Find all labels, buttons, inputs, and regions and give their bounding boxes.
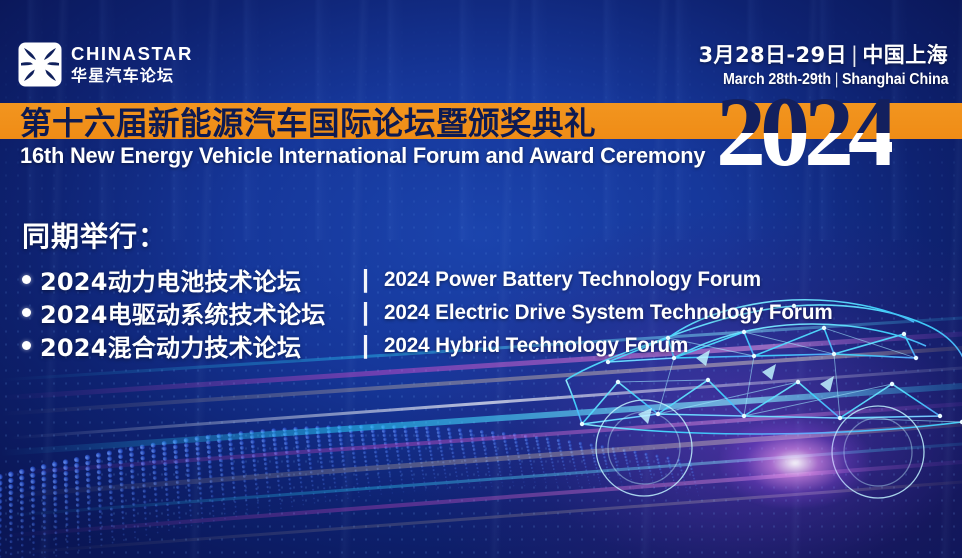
date-location-cn: 3月28日-29日|中国上海 bbox=[699, 44, 948, 68]
page-title-cn: 第十六届新能源汽车国际论坛暨颁奖典礼 bbox=[20, 100, 596, 142]
headlight-glow-decoration bbox=[720, 418, 870, 508]
agenda-item-name-en: 2024 Power Battery Technology Forum bbox=[384, 267, 761, 292]
date-en-text: March 28th-29th bbox=[723, 71, 831, 88]
list-item[interactable]: 2024电驱动系统技术论坛 | 2024 Electric Drive Syst… bbox=[22, 297, 882, 328]
agenda-heading: 同期举行： bbox=[22, 215, 882, 255]
bullet-icon bbox=[22, 308, 31, 317]
logo-name-cn: 华星汽车论坛 bbox=[71, 68, 193, 84]
agenda-item-name-en: 2024 Electric Drive System Technology Fo… bbox=[384, 300, 833, 325]
bullet-icon bbox=[22, 275, 31, 284]
agenda-item-name-cn: 2024混合动力技术论坛 bbox=[40, 328, 301, 363]
agenda-item-name-en: 2024 Hybrid Technology Forum bbox=[384, 333, 688, 358]
event-poster: CHINASTAR 华星汽车论坛 3月28日-29日|中国上海 March 28… bbox=[0, 0, 962, 558]
date-cn-text: 3月28日-29日 bbox=[699, 43, 847, 67]
agenda-item-divider: | bbox=[362, 267, 369, 292]
location-en-text: Shanghai China bbox=[842, 71, 948, 88]
date-location-en: March 28th-29th|Shanghai China bbox=[718, 71, 948, 89]
list-item[interactable]: 2024混合动力技术论坛 | 2024 Hybrid Technology Fo… bbox=[22, 330, 882, 361]
logo-wordmark: CHINASTAR 华星汽车论坛 bbox=[71, 45, 193, 84]
list-item[interactable]: 2024动力电池技术论坛 | 2024 Power Battery Techno… bbox=[22, 264, 882, 295]
agenda-item-name-cn: 2024动力电池技术论坛 bbox=[40, 262, 301, 297]
date-separator-cn: | bbox=[847, 43, 862, 67]
agenda-section: 同期举行： 2024动力电池技术论坛 | 2024 Power Battery … bbox=[22, 215, 882, 363]
event-date-location: 3月28日-29日|中国上海 March 28th-29th|Shanghai … bbox=[699, 44, 948, 88]
chinastar-star-logo-icon bbox=[18, 42, 62, 87]
agenda-item-divider: | bbox=[362, 333, 369, 358]
page-title-en: 16th New Energy Vehicle International Fo… bbox=[20, 143, 705, 169]
date-separator-en: | bbox=[831, 71, 842, 88]
location-cn-text: 中国上海 bbox=[862, 43, 948, 67]
agenda-item-name-cn: 2024电驱动系统技术论坛 bbox=[40, 295, 325, 330]
logo-name-en: CHINASTAR bbox=[71, 45, 193, 64]
dot-wave-icon bbox=[0, 348, 720, 558]
chinastar-logo[interactable]: CHINASTAR 华星汽车论坛 bbox=[18, 42, 193, 87]
agenda-item-divider: | bbox=[362, 300, 369, 325]
bullet-icon bbox=[22, 341, 31, 350]
